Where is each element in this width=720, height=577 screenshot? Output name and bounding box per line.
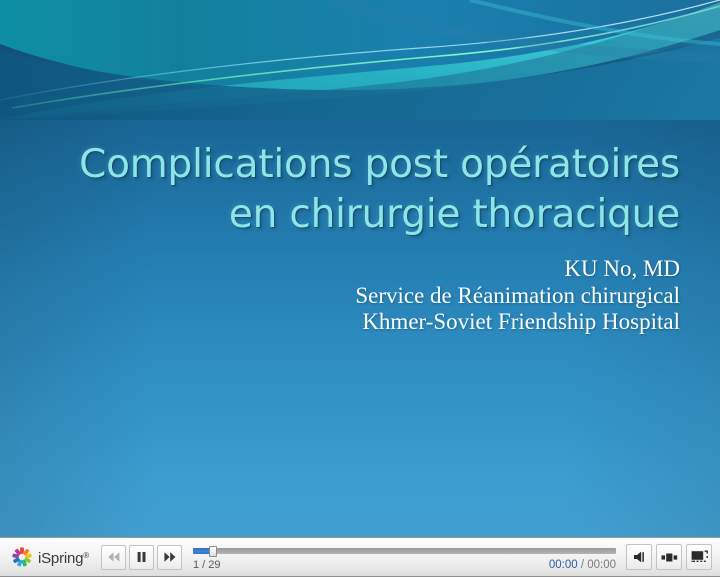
transport-controls	[101, 545, 182, 570]
time-display: 00:00 / 00:00	[549, 559, 616, 571]
fast-forward-icon	[163, 551, 177, 563]
sidebar-toggle-button[interactable]	[656, 544, 682, 570]
fullscreen-icon	[691, 550, 708, 565]
volume-button[interactable]	[626, 544, 652, 570]
subtitle-department: Service de Réanimation chirurgical	[40, 283, 680, 310]
player-right-controls	[626, 544, 716, 570]
progress-fill	[193, 548, 210, 554]
ispring-brand: iSpring®	[4, 538, 95, 576]
subtitle-author: KU No, MD	[40, 256, 680, 283]
player-toolbar: iSpring®	[0, 537, 720, 577]
fullscreen-button[interactable]	[686, 544, 712, 570]
progress-bar[interactable]	[193, 546, 616, 555]
slide-counter: 1 / 29	[193, 559, 221, 571]
time-total: 00:00	[587, 559, 616, 571]
seek-labels: 1 / 29 00:00 / 00:00	[193, 559, 616, 571]
ispring-wordmark: iSpring	[38, 550, 83, 567]
slide-subtitle: KU No, MD Service de Réanimation chirurg…	[40, 256, 680, 336]
theme-wave-decoration	[0, 0, 720, 120]
slide-title: Complications post opératoires en chirur…	[40, 140, 680, 240]
subtitle-institution: Khmer-Soviet Friendship Hospital	[40, 309, 680, 336]
registered-mark: ®	[83, 551, 89, 560]
previous-slide-button[interactable]	[101, 545, 126, 570]
title-line-2: en chirurgie thoracique	[40, 190, 680, 240]
seek-zone: 1 / 29 00:00 / 00:00	[193, 540, 616, 574]
pause-button[interactable]	[129, 545, 154, 570]
slides-panel-icon	[661, 553, 678, 562]
next-slide-button[interactable]	[157, 545, 182, 570]
ispring-presentation-viewer: Complications post opératoires en chirur…	[0, 0, 720, 577]
progress-track[interactable]	[193, 548, 616, 554]
title-line-1: Complications post opératoires	[40, 140, 680, 190]
slide-canvas: Complications post opératoires en chirur…	[0, 0, 720, 537]
pause-icon	[136, 551, 147, 563]
time-current: 00:00	[549, 559, 578, 571]
ispring-logo-icon	[10, 545, 34, 569]
wave-svg	[0, 0, 720, 120]
ispring-brand-text: iSpring®	[38, 550, 89, 567]
rewind-icon	[107, 551, 121, 563]
volume-icon	[632, 550, 647, 564]
progress-thumb[interactable]	[209, 546, 217, 557]
time-separator: /	[578, 559, 588, 571]
